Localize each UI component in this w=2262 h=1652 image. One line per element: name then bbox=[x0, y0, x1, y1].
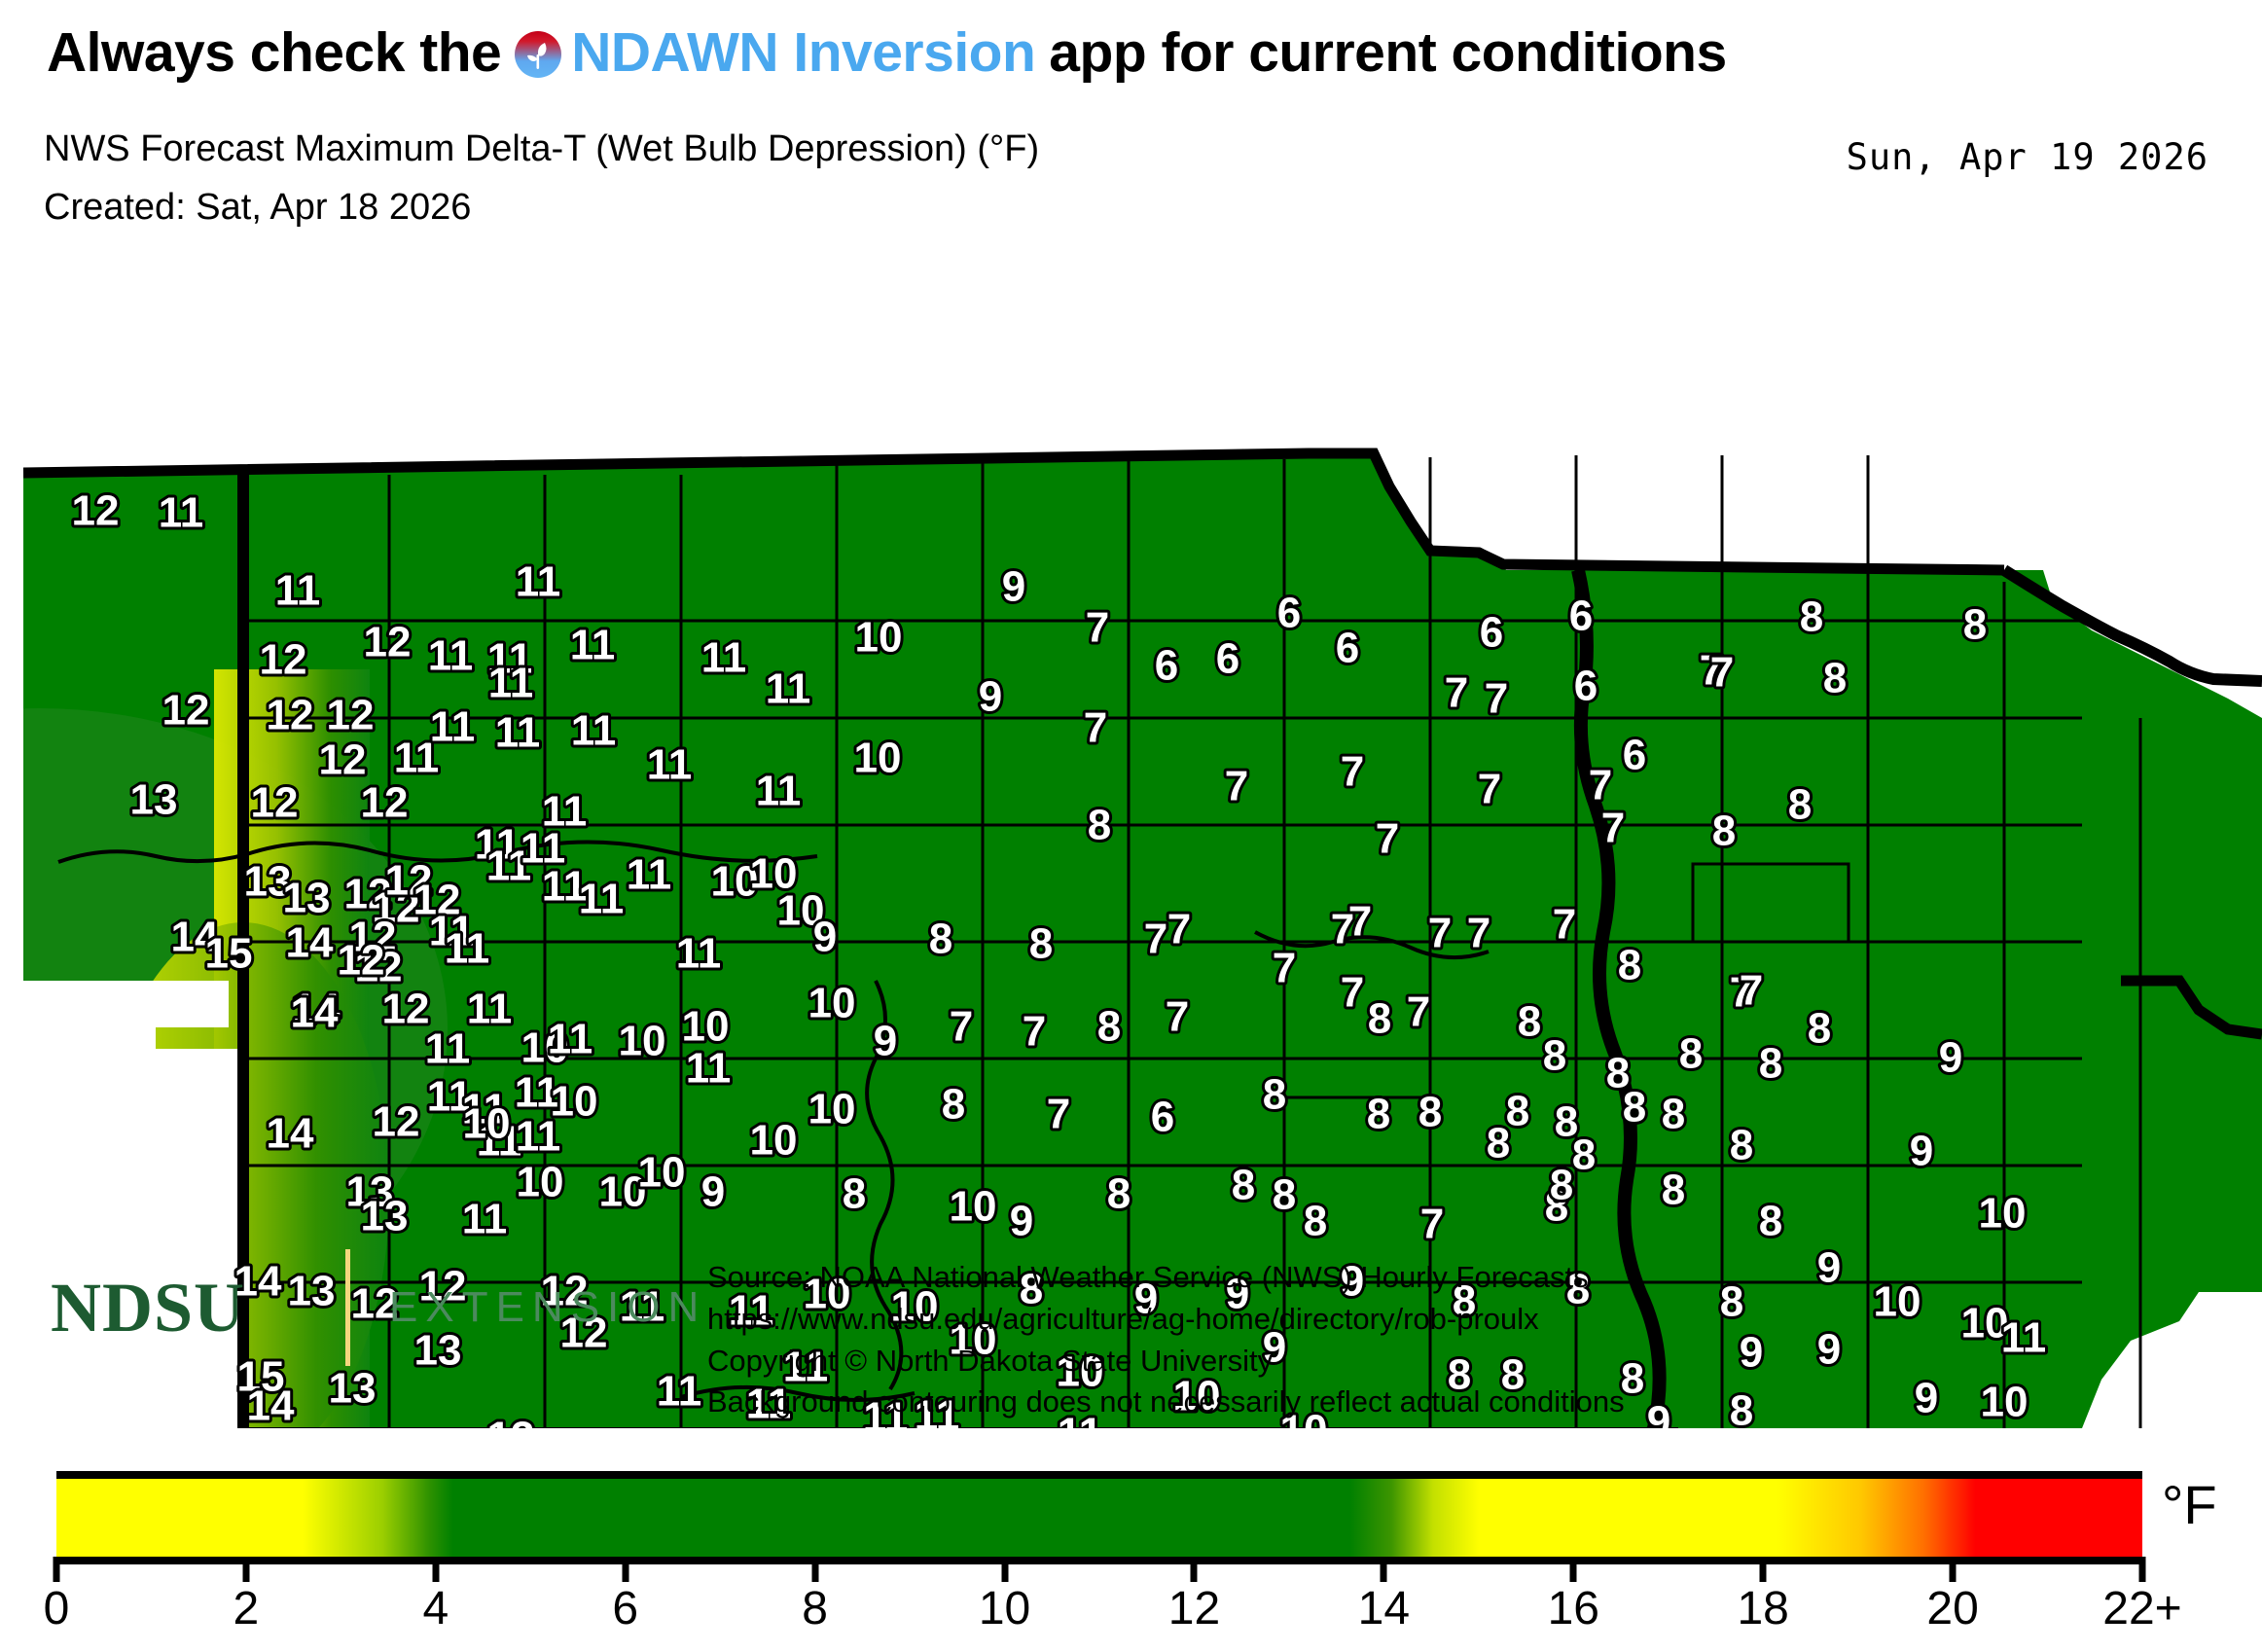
station-value: 8 bbox=[1800, 593, 1823, 641]
station-value: 6 bbox=[1151, 1094, 1174, 1141]
colorbar-legend: 0246810121416182022+ °F bbox=[0, 1450, 2262, 1652]
station-value: 11 bbox=[425, 1025, 471, 1073]
station-value: 7 bbox=[1420, 1201, 1444, 1248]
station-value: 8 bbox=[1759, 1198, 1782, 1245]
extension-wordmark: EXTENSION bbox=[389, 1286, 706, 1329]
station-value: 11 bbox=[647, 741, 693, 789]
colorbar-tick-label: 20 bbox=[1926, 1582, 1978, 1635]
created-timestamp: Created: Sat, Apr 18 2026 bbox=[44, 187, 471, 229]
colorbar-tick-label: 12 bbox=[1168, 1582, 1220, 1635]
station-value: 7 bbox=[1348, 898, 1372, 946]
station-value: 12 bbox=[364, 619, 412, 666]
station-value: 11 bbox=[756, 768, 802, 815]
colorbar-tick bbox=[432, 1557, 439, 1582]
station-value: 8 bbox=[1418, 1089, 1442, 1136]
station-value: 8 bbox=[1304, 1198, 1327, 1245]
station-value: 11 bbox=[542, 788, 588, 836]
station-value: 11 bbox=[701, 634, 747, 682]
station-value: 11 bbox=[467, 986, 513, 1033]
banner-prefix-text: Always check the bbox=[47, 20, 501, 85]
station-value: 7 bbox=[1553, 901, 1576, 949]
station-value: 13 bbox=[361, 1193, 409, 1240]
station-value: 7 bbox=[1225, 763, 1248, 810]
station-value: 11 bbox=[516, 1113, 561, 1161]
station-value: 7 bbox=[1084, 704, 1107, 752]
station-value: 8 bbox=[1759, 1040, 1782, 1088]
station-value: 8 bbox=[1788, 781, 1812, 829]
station-value: 14 bbox=[286, 919, 334, 967]
station-value: 12 bbox=[72, 487, 120, 535]
station-value: 8 bbox=[1550, 1162, 1573, 1209]
station-value: 11 bbox=[766, 665, 811, 713]
station-value: 8 bbox=[1662, 1167, 1685, 1214]
station-value: 7 bbox=[1710, 649, 1734, 697]
station-value: 8 bbox=[1963, 601, 1987, 649]
station-value: 8 bbox=[1232, 1162, 1255, 1209]
station-value: 7 bbox=[1166, 993, 1189, 1041]
station-value: 8 bbox=[1662, 1091, 1685, 1138]
station-value: 6 bbox=[1623, 732, 1646, 779]
station-value: 8 bbox=[1618, 942, 1641, 989]
station-value: 6 bbox=[1336, 625, 1359, 672]
station-value: 7 bbox=[1428, 910, 1452, 957]
station-value: 10 bbox=[950, 1183, 997, 1231]
station-value: 8 bbox=[1263, 1071, 1286, 1119]
station-value: 8 bbox=[929, 916, 952, 963]
colorbar-tick bbox=[622, 1557, 628, 1582]
station-value: 7 bbox=[1376, 815, 1399, 863]
station-value: 6 bbox=[1574, 663, 1598, 710]
ndsu-logo: NDSU bbox=[51, 1273, 245, 1343]
station-value: 14 bbox=[291, 989, 339, 1037]
station-value: 8 bbox=[1679, 1030, 1703, 1078]
source-attribution: Source: NOAA National Weather Service (N… bbox=[707, 1257, 1625, 1423]
station-value: 8 bbox=[1543, 1032, 1566, 1080]
station-value: 9 bbox=[874, 1018, 897, 1065]
colorbar-tick bbox=[2139, 1557, 2146, 1582]
station-value: 11 bbox=[159, 489, 204, 537]
colorbar-tick-label: 10 bbox=[979, 1582, 1030, 1635]
station-value: 7 bbox=[1740, 967, 1763, 1015]
station-value: 6 bbox=[1277, 590, 1301, 637]
station-value: 8 bbox=[1808, 1005, 1831, 1053]
colorbar-tick bbox=[1950, 1557, 1957, 1582]
station-value: 10 bbox=[750, 1117, 798, 1165]
colorbar-tick bbox=[54, 1557, 60, 1582]
station-value: 7 bbox=[950, 1003, 973, 1051]
station-value: 12 bbox=[319, 736, 367, 784]
colorbar-tick bbox=[1381, 1557, 1387, 1582]
colorbar-tick-label: 4 bbox=[422, 1582, 449, 1635]
station-value: 7 bbox=[1023, 1008, 1046, 1056]
station-value: 8 bbox=[1730, 1122, 1753, 1169]
station-value: 11 bbox=[686, 1045, 732, 1093]
colorbar-tick-label: 16 bbox=[1548, 1582, 1599, 1635]
station-value: 9 bbox=[701, 1168, 725, 1216]
station-value: 7 bbox=[1273, 945, 1296, 992]
station-value: 7 bbox=[1144, 916, 1167, 963]
station-value: 9 bbox=[1910, 1128, 1933, 1175]
station-value: 10 bbox=[855, 614, 903, 662]
header-banner: Always check the NDAWN Inversion app for… bbox=[47, 18, 2226, 88]
colorbar-tick-label: 0 bbox=[44, 1582, 70, 1635]
station-value: 12 bbox=[267, 692, 314, 739]
ndawn-sprout-icon bbox=[515, 31, 561, 78]
station-value: 8 bbox=[1273, 1171, 1296, 1219]
station-value: 6 bbox=[1480, 609, 1503, 657]
station-value: 12 bbox=[327, 692, 375, 739]
station-value: 10 bbox=[682, 1003, 730, 1051]
station-value: 9 bbox=[813, 914, 837, 961]
colorbar-tick-label: 14 bbox=[1358, 1582, 1410, 1635]
station-value: 13 bbox=[130, 776, 178, 824]
station-value: 7 bbox=[1086, 604, 1109, 652]
station-value: 8 bbox=[1029, 920, 1053, 968]
station-value: 9 bbox=[1010, 1198, 1033, 1245]
logo-divider bbox=[345, 1249, 350, 1366]
colorbar-tick-label: 18 bbox=[1737, 1582, 1788, 1635]
station-value: 9 bbox=[979, 673, 1002, 721]
station-value: 7 bbox=[1445, 669, 1468, 717]
station-value: 12 bbox=[373, 1098, 420, 1146]
station-value: 12 bbox=[338, 937, 385, 985]
station-value: 10 bbox=[854, 735, 902, 782]
station-value: 7 bbox=[1589, 762, 1612, 809]
colorbar-tick-label: 6 bbox=[612, 1582, 638, 1635]
station-value: 11 bbox=[428, 632, 474, 680]
station-value: 7 bbox=[1407, 988, 1430, 1036]
station-value: 7 bbox=[1478, 766, 1501, 813]
station-value: 10 bbox=[619, 1018, 666, 1065]
station-value: 6 bbox=[1216, 635, 1239, 683]
station-value: 11 bbox=[495, 709, 541, 757]
banner-suffix-text: app for current conditions bbox=[1049, 20, 1726, 85]
station-value: 7 bbox=[1167, 906, 1191, 953]
station-value: 11 bbox=[445, 925, 490, 973]
station-value: 11 bbox=[430, 703, 476, 751]
station-value: 10 bbox=[517, 1159, 564, 1206]
station-value: 11 bbox=[275, 567, 321, 615]
station-value: 8 bbox=[1367, 1091, 1390, 1138]
station-value: 8 bbox=[1518, 998, 1541, 1046]
degree-unit-label: °F bbox=[2162, 1473, 2217, 1536]
station-value: 8 bbox=[843, 1170, 866, 1218]
station-value: 8 bbox=[1823, 655, 1847, 702]
colorbar-tick bbox=[1570, 1557, 1577, 1582]
station-value: 7 bbox=[1341, 748, 1364, 796]
station-value: 11 bbox=[579, 876, 625, 923]
station-value: 10 bbox=[638, 1149, 686, 1197]
station-value: 12 bbox=[361, 779, 409, 827]
source-line-2[interactable]: https://www.ndsu.edu/agriculture/ag-home… bbox=[707, 1299, 1625, 1341]
station-value: 7 bbox=[1047, 1091, 1070, 1138]
station-value: 6 bbox=[1569, 593, 1593, 640]
station-value: 8 bbox=[1097, 1003, 1121, 1051]
colorbar-tick bbox=[811, 1557, 818, 1582]
station-value: 8 bbox=[1088, 802, 1111, 849]
map-subtitle: NWS Forecast Maximum Delta-T (Wet Bulb D… bbox=[44, 128, 1039, 170]
station-value: 9 bbox=[1939, 1034, 1962, 1082]
station-value: 7 bbox=[1485, 675, 1508, 723]
colorbar-tick-label: 2 bbox=[233, 1582, 260, 1635]
station-value: 10 bbox=[808, 1086, 856, 1133]
station-value: 11 bbox=[516, 558, 561, 606]
colorbar-tick bbox=[1001, 1557, 1008, 1582]
colorbar-frame bbox=[56, 1471, 2142, 1564]
station-value: 8 bbox=[1368, 995, 1391, 1043]
colorbar-gradient bbox=[56, 1479, 2142, 1557]
station-value: 11 bbox=[676, 930, 722, 978]
station-value: 11 bbox=[571, 707, 617, 755]
colorbar-tick-label: 8 bbox=[802, 1582, 828, 1635]
station-value: 7 bbox=[1601, 805, 1625, 852]
station-value: 7 bbox=[1467, 910, 1490, 957]
station-value: 10 bbox=[1979, 1190, 2027, 1238]
station-value: 10 bbox=[808, 980, 856, 1027]
station-value: 8 bbox=[1107, 1170, 1131, 1218]
station-value: 11 bbox=[627, 851, 672, 899]
source-line-4: Background contouring does not necessari… bbox=[707, 1382, 1625, 1423]
colorbar-tick bbox=[1760, 1557, 1767, 1582]
colorbar-ticks bbox=[56, 1557, 2142, 1582]
source-line-1: Source: NOAA National Weather Service (N… bbox=[707, 1257, 1625, 1299]
station-value: 14 bbox=[267, 1110, 314, 1158]
valid-date-label: Sun, Apr 19 2026 bbox=[1847, 136, 2208, 178]
station-value: 12 bbox=[162, 687, 210, 735]
colorbar-tick-labels: 0246810121416182022+ bbox=[56, 1582, 2142, 1640]
colorbar-tick bbox=[242, 1557, 249, 1582]
ndawn-inversion-link[interactable]: NDAWN Inversion bbox=[571, 20, 1035, 85]
station-value: 12 bbox=[260, 636, 307, 684]
station-value: 15 bbox=[205, 930, 253, 978]
footer: NDSU EXTENSION Source: NOAA National Wea… bbox=[0, 1245, 2262, 1440]
station-value: 11 bbox=[570, 622, 616, 669]
station-value: 11 bbox=[548, 1016, 593, 1063]
station-value: 12 bbox=[251, 779, 299, 827]
station-value: 12 bbox=[382, 986, 430, 1033]
station-value: 11 bbox=[488, 660, 534, 707]
station-value: 9 bbox=[1002, 563, 1025, 611]
station-value: 8 bbox=[942, 1081, 965, 1129]
station-value: 7 bbox=[1341, 969, 1364, 1017]
station-value: 6 bbox=[1155, 642, 1178, 690]
station-value: 10 bbox=[463, 1100, 511, 1148]
station-value: 8 bbox=[1623, 1084, 1646, 1131]
source-line-3: Copyright © North Dakota State Universit… bbox=[707, 1341, 1625, 1383]
station-value: 11 bbox=[462, 1196, 508, 1243]
colorbar-tick-label: 22+ bbox=[2102, 1582, 2181, 1635]
colorbar-tick bbox=[1191, 1557, 1198, 1582]
station-value: 8 bbox=[1572, 1131, 1596, 1179]
station-value: 8 bbox=[1506, 1088, 1529, 1135]
station-value: 8 bbox=[1712, 808, 1736, 855]
station-value: 13 bbox=[283, 875, 331, 922]
